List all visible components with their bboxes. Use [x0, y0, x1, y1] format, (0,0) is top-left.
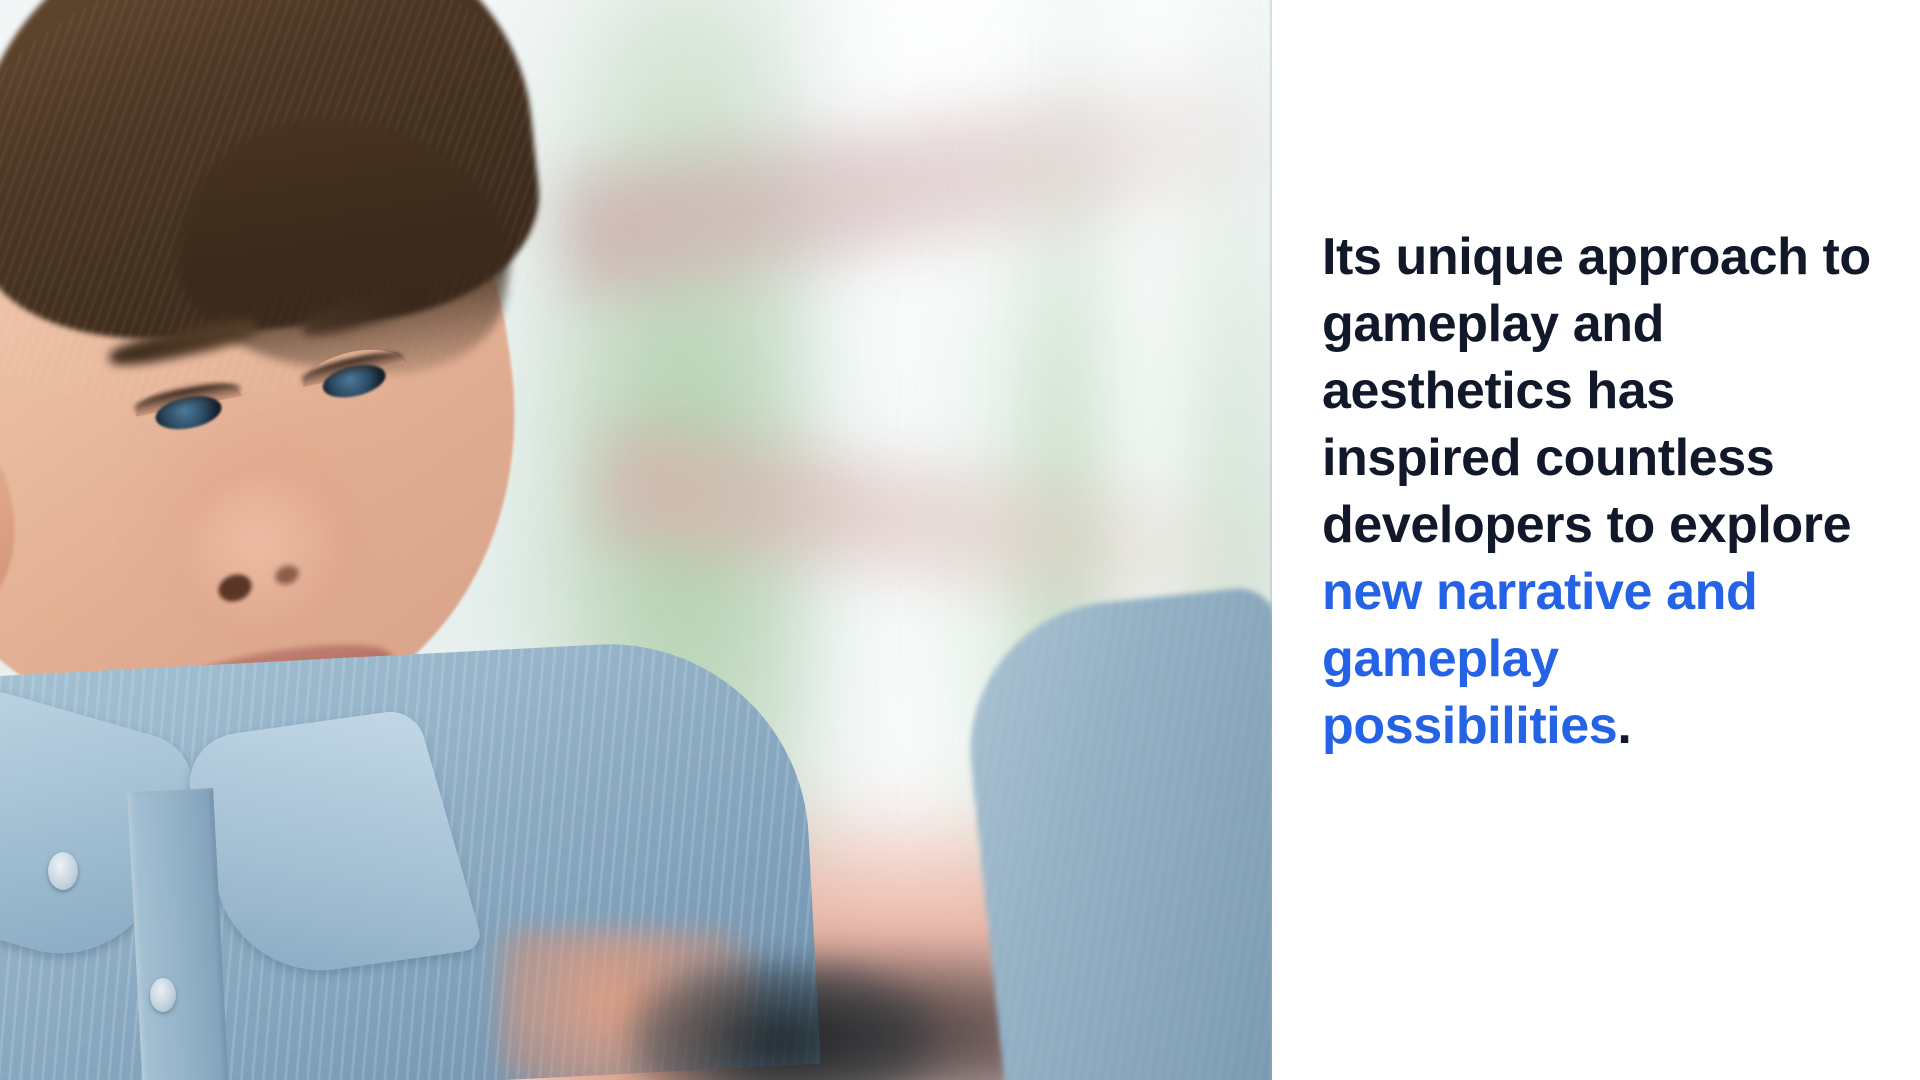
denim-button-upper — [48, 852, 78, 890]
photo-stage — [0, 0, 1272, 1080]
quote-segment-highlight: new narrative and gameplay possibilities — [1322, 563, 1757, 755]
boy-nose — [185, 470, 365, 650]
text-panel: Its unique approach to gameplay and aest… — [1272, 0, 1920, 1080]
denim-placket — [127, 788, 229, 1080]
boy-smiling-photo — [0, 0, 1272, 1080]
slide-root: Its unique approach to gameplay and aest… — [0, 0, 1920, 1080]
quote-segment-normal-lead: Its unique approach to gameplay and aest… — [1322, 228, 1871, 554]
boy-denim-shirt — [0, 630, 870, 1080]
quote-segment-period: . — [1617, 697, 1631, 755]
photo-boy-figure — [0, 0, 870, 1080]
dark-handheld-object — [630, 960, 930, 1080]
quote-paragraph: Its unique approach to gameplay and aest… — [1322, 224, 1882, 760]
photo-secondary-arm — [956, 585, 1272, 1080]
denim-button-lower — [150, 978, 176, 1012]
